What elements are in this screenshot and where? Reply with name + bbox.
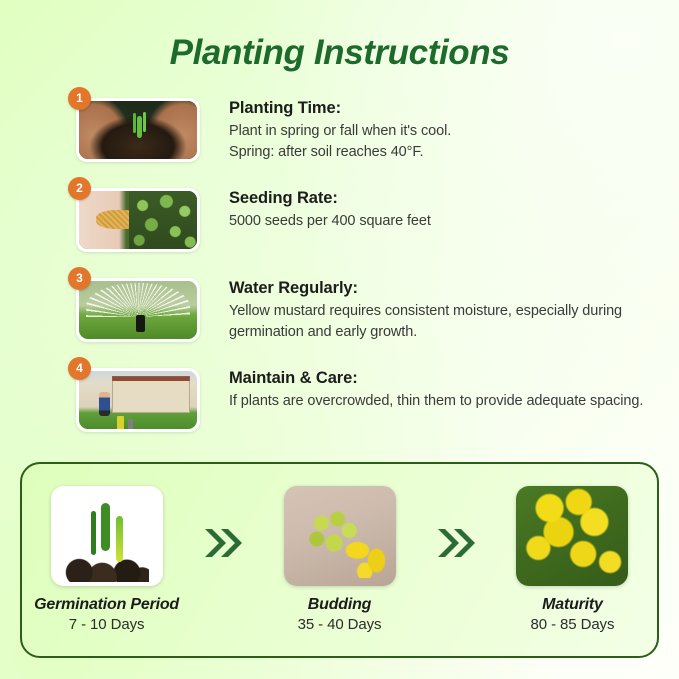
yellow-mustard-flowers-photo: [516, 486, 628, 586]
step-number-badge: 4: [68, 357, 91, 380]
step-image-water-regularly: [79, 281, 197, 339]
germinating-seed-sprout-photo: [51, 486, 163, 586]
step-number-badge: 2: [68, 177, 91, 200]
lawn-sprinkler-watering-photo: [79, 281, 197, 339]
step-image-maintain-care: [79, 371, 197, 429]
page-title: Planting Instructions: [0, 33, 679, 73]
stage-thumbnail: [51, 486, 163, 586]
double-chevron-right-icon: [424, 464, 488, 560]
person-mowing-lawn-photo: [79, 371, 197, 429]
hand-holding-mustard-seeds-photo: [79, 191, 197, 249]
stage-label: Maturity: [488, 596, 657, 614]
step-number-badge: 3: [68, 267, 91, 290]
step-image-planting-time: [79, 101, 197, 159]
growth-stage-row: Germination Period 7 - 10 Days Budding 3…: [22, 464, 657, 656]
step-heading: Planting Time:: [229, 99, 649, 118]
step-thumbnail-4: 4: [76, 368, 200, 432]
step-description: 5000 seeds per 400 square feet: [229, 211, 649, 232]
steps-list: 1 Planting Time: Plant in spring or fall…: [0, 90, 679, 450]
double-chevron-right-icon: [191, 464, 255, 560]
stage-label: Budding: [255, 596, 424, 614]
step-heading: Water Regularly:: [229, 279, 649, 298]
step-heading: Seeding Rate:: [229, 189, 649, 208]
step-description: Plant in spring or fall when it's cool.S…: [229, 121, 649, 162]
step-text-block: Maintain & Care: If plants are overcrowd…: [229, 369, 649, 412]
step-item: 3 Water Regularly: Yellow mustard requir…: [0, 270, 679, 360]
stage-label: Germination Period: [22, 596, 191, 614]
step-thumbnail-2: 2: [76, 188, 200, 252]
stage-duration: 35 - 40 Days: [255, 616, 424, 633]
step-text-block: Water Regularly: Yellow mustard requires…: [229, 279, 649, 342]
mustard-flower-buds-photo: [284, 486, 396, 586]
growth-timeline-panel: Germination Period 7 - 10 Days Budding 3…: [20, 462, 659, 658]
step-text-block: Seeding Rate: 5000 seeds per 400 square …: [229, 189, 649, 232]
growth-stage-germination: Germination Period 7 - 10 Days: [22, 464, 191, 633]
stage-duration: 80 - 85 Days: [488, 616, 657, 633]
step-thumbnail-1: 1: [76, 98, 200, 162]
growth-stage-budding: Budding 35 - 40 Days: [255, 464, 424, 633]
stage-duration: 7 - 10 Days: [22, 616, 191, 633]
step-heading: Maintain & Care:: [229, 369, 649, 388]
step-description: Yellow mustard requires consistent moist…: [229, 301, 649, 342]
step-thumbnail-3: 3: [76, 278, 200, 342]
planting-instructions-infographic: Planting Instructions 1 Planting Time: P…: [0, 0, 679, 679]
hands-holding-soil-with-sprout-photo: [79, 101, 197, 159]
step-item: 1 Planting Time: Plant in spring or fall…: [0, 90, 679, 180]
step-item: 4 Maintain & Care: If plants are overcro…: [0, 360, 679, 450]
stage-thumbnail: [516, 486, 628, 586]
growth-stage-maturity: Maturity 80 - 85 Days: [488, 464, 657, 633]
step-item: 2 Seeding Rate: 5000 seeds per 400 squar…: [0, 180, 679, 270]
step-number-badge: 1: [68, 87, 91, 110]
step-text-block: Planting Time: Plant in spring or fall w…: [229, 99, 649, 162]
step-image-seeding-rate: [79, 191, 197, 249]
stage-thumbnail: [284, 486, 396, 586]
step-description: If plants are overcrowded, thin them to …: [229, 391, 649, 412]
